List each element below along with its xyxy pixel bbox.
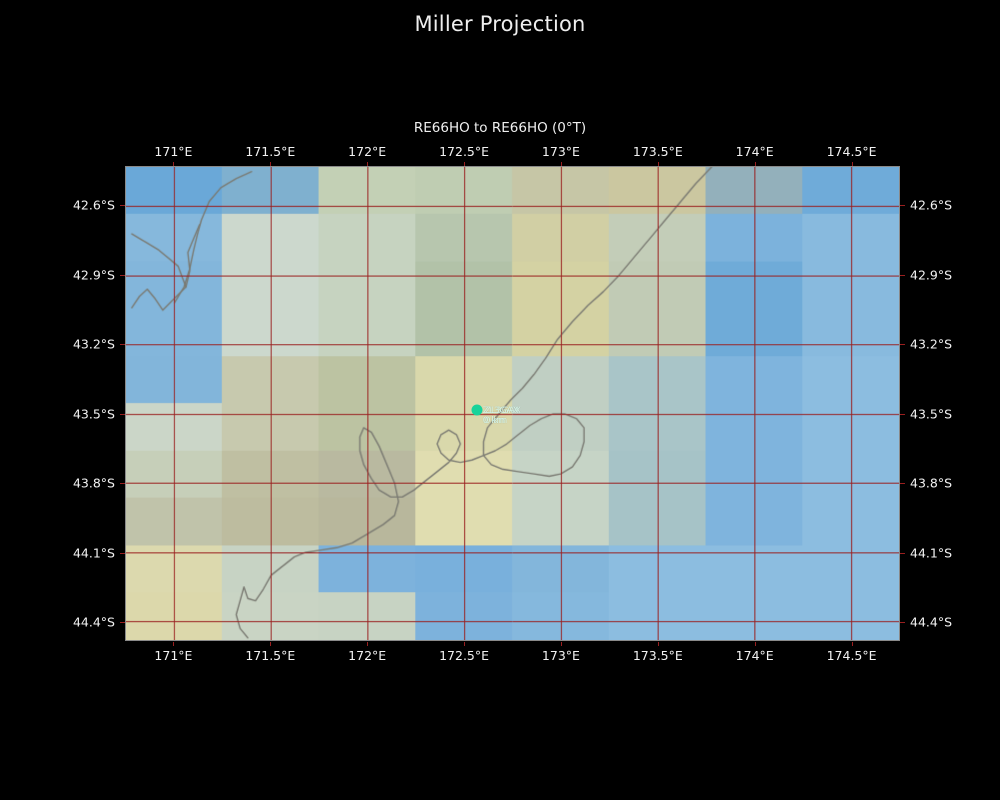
x-tickmark-top-0	[173, 162, 174, 166]
y-tickmark-right-6	[900, 622, 905, 623]
y-tickmark-left-0	[120, 205, 125, 206]
x-tick-top-6: 174°E	[736, 144, 774, 159]
x-tickmark-top-4	[561, 162, 562, 166]
y-tickmark-left-3	[120, 414, 125, 415]
station-marker-dot[interactable]	[471, 405, 482, 416]
y-tick-right-4: 43.8°S	[910, 476, 952, 491]
y-tickmark-right-4	[900, 483, 905, 484]
map-plot-area[interactable]: ZL3GAX0 kmZL3GAX0 km	[125, 166, 900, 641]
station-label-duplicate: ZL3GAX0 km	[485, 406, 521, 426]
y-tick-right-6: 44.4°S	[910, 615, 952, 630]
y-tick-right-0: 42.6°S	[910, 198, 952, 213]
x-tick-bottom-0: 171°E	[154, 648, 192, 663]
y-tickmark-left-5	[120, 553, 125, 554]
x-tick-bottom-4: 173°E	[542, 648, 580, 663]
x-tickmark-bottom-4	[561, 642, 562, 646]
x-tick-bottom-7: 174.5°E	[827, 648, 877, 663]
x-tickmark-bottom-5	[658, 642, 659, 646]
x-tickmark-bottom-2	[367, 642, 368, 646]
x-tickmark-top-1	[270, 162, 271, 166]
x-tick-top-2: 172°E	[348, 144, 386, 159]
x-tickmark-bottom-3	[464, 642, 465, 646]
x-tick-top-3: 172.5°E	[439, 144, 489, 159]
figure-title: Miller Projection	[0, 12, 1000, 36]
y-tickmark-left-2	[120, 344, 125, 345]
figure-subtitle: RE66HO to RE66HO (0°T)	[0, 120, 1000, 136]
x-tickmark-top-2	[367, 162, 368, 166]
x-tick-top-1: 171.5°E	[245, 144, 295, 159]
y-tickmark-right-0	[900, 205, 905, 206]
x-tickmark-top-3	[464, 162, 465, 166]
y-tick-left-1: 42.9°S	[73, 267, 115, 282]
x-tick-bottom-3: 172.5°E	[439, 648, 489, 663]
x-tickmark-top-5	[658, 162, 659, 166]
y-tick-left-2: 43.2°S	[73, 337, 115, 352]
x-tick-bottom-5: 173.5°E	[633, 648, 683, 663]
x-tick-top-7: 174.5°E	[827, 144, 877, 159]
x-tickmark-top-6	[755, 162, 756, 166]
y-tick-right-2: 43.2°S	[910, 337, 952, 352]
y-tick-right-1: 42.9°S	[910, 267, 952, 282]
x-tickmark-bottom-7	[852, 642, 853, 646]
station-distance: 0 km	[485, 416, 521, 426]
y-tick-left-6: 44.4°S	[73, 615, 115, 630]
station-marker-layer: ZL3GAX0 kmZL3GAX0 km	[126, 167, 899, 640]
x-tick-bottom-1: 171.5°E	[245, 648, 295, 663]
x-tickmark-bottom-0	[173, 642, 174, 646]
x-tick-top-5: 173.5°E	[633, 144, 683, 159]
y-tick-left-3: 43.5°S	[73, 406, 115, 421]
y-tick-left-5: 44.1°S	[73, 545, 115, 560]
y-tick-left-4: 43.8°S	[73, 476, 115, 491]
y-tick-right-5: 44.1°S	[910, 545, 952, 560]
y-tickmark-right-3	[900, 414, 905, 415]
x-tickmark-bottom-6	[755, 642, 756, 646]
y-tick-right-3: 43.5°S	[910, 406, 952, 421]
x-tick-bottom-6: 174°E	[736, 648, 774, 663]
x-tick-top-4: 173°E	[542, 144, 580, 159]
x-tick-top-0: 171°E	[154, 144, 192, 159]
y-tickmark-left-1	[120, 275, 125, 276]
x-tickmark-top-7	[852, 162, 853, 166]
y-tickmark-left-6	[120, 622, 125, 623]
y-tick-left-0: 42.6°S	[73, 198, 115, 213]
y-tickmark-right-2	[900, 344, 905, 345]
x-tickmark-bottom-1	[270, 642, 271, 646]
x-tick-bottom-2: 172°E	[348, 648, 386, 663]
station-callsign: ZL3GAX	[485, 406, 521, 416]
y-tickmark-left-4	[120, 483, 125, 484]
y-tickmark-right-1	[900, 275, 905, 276]
y-tickmark-right-5	[900, 553, 905, 554]
figure-canvas: Miller Projection RE66HO to RE66HO (0°T)…	[0, 0, 1000, 800]
